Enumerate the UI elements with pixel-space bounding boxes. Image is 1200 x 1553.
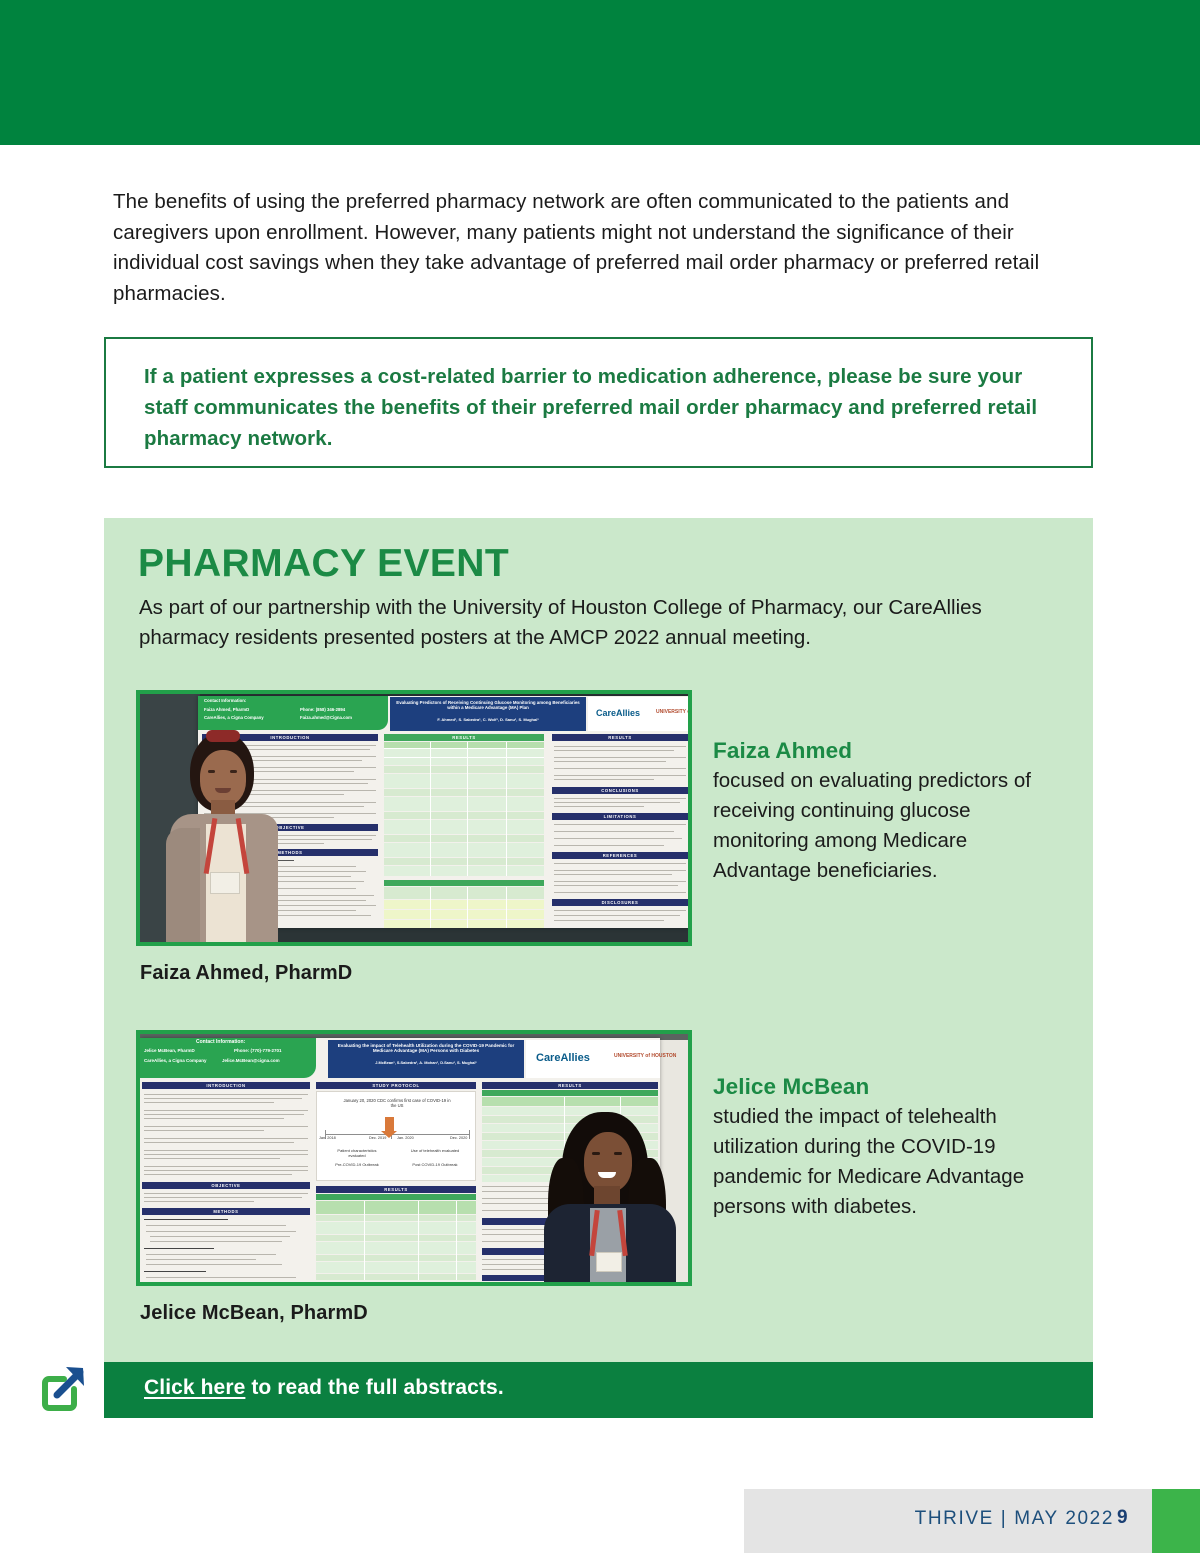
flow-right-sub: Post COVID-19 Outbreak (409, 1162, 461, 1167)
presenter-figure (148, 732, 288, 942)
flow-date-4: Dec. 2020 (450, 1136, 467, 1140)
photo-frame: Contact Information: Faiza Ahmed, PharmD… (136, 690, 692, 946)
flow-note: January 20, 2020 CDC confirms first case… (341, 1098, 453, 1109)
section-label-methods: METHODS (142, 1209, 310, 1214)
flow-right-label: Use of telehealth evaluated (409, 1148, 461, 1153)
section-label-conclusions: CONCLUSIONS (552, 788, 688, 793)
section-label-results-mid: RESULTS (316, 1187, 476, 1192)
poster-title: Evaluating the impact of Telehealth Util… (330, 1043, 522, 1054)
section-label-limitations: LIMITATIONS (552, 814, 688, 819)
flow-date-2: Dec. 2019 (369, 1136, 386, 1140)
uh-logo: UNIVERSITY of HOUSTON (656, 710, 690, 716)
flow-left-label: Patient characteristics evaluated (331, 1148, 383, 1158)
poster-contact-email: Jelice.McBean@cigna.com (222, 1058, 280, 1064)
bio-text-jelice: studied the impact of telehealth utiliza… (713, 1102, 1033, 1222)
uh-logo: UNIVERSITY of HOUSTON (614, 1054, 656, 1060)
external-link-icon[interactable] (38, 1362, 90, 1414)
presenter-figure (518, 1112, 688, 1282)
poster-contact-email: Faiza.ahmed@Cigna.com (300, 715, 352, 720)
callout-text: If a patient expresses a cost-related ba… (144, 361, 1064, 454)
poster-contact-heading: Contact Information: (204, 698, 246, 703)
header-band (0, 0, 1200, 145)
photo-caption-jelice: Jelice McBean, PharmD (140, 1302, 368, 1325)
section-label-references: REFERENCES (552, 853, 688, 858)
photo-caption-faiza: Faiza Ahmed, PharmD (140, 962, 352, 985)
section-label-results-mid: RESULTS (384, 735, 544, 740)
poster-contact-name: Faiza Ahmed, PharmD (204, 707, 249, 712)
section-label-results-right: RESULTS (552, 735, 688, 740)
bio-jelice-mcbean: Jelice McBean studied the impact of tele… (713, 1072, 1033, 1222)
footer-text: THRIVE | MAY 2022 (915, 1508, 1114, 1530)
poster-contact-phone: Phone: (770)-779-2701 (234, 1048, 282, 1054)
flow-date-1: Jan. 2018 (319, 1136, 336, 1140)
page-title: PHARMACY EVENT (138, 542, 509, 586)
newsletter-page: The benefits of using the preferred phar… (0, 0, 1200, 1553)
poster-title: Evaluating Predictors of Receiving Conti… (392, 700, 584, 710)
page-number: 9 (1117, 1507, 1128, 1529)
bio-name-jelice: Jelice McBean (713, 1072, 1033, 1102)
poster-authors: J.McBean¹, S.Sabedra¹, A. Mohan¹, D.Sanu… (330, 1061, 522, 1065)
cta-bar[interactable]: Click here to read the full abstracts. (104, 1362, 1093, 1418)
poster-contact-heading: Contact Information: (196, 1039, 245, 1045)
footer-accent-block (1152, 1489, 1200, 1553)
section-label-study-protocol: STUDY PROTOCOL (316, 1083, 476, 1088)
poster-authors: F. Ahmed¹, S. Sabedra¹, C. Wolf¹, D. San… (392, 718, 584, 723)
poster-photo-faiza-ahmed: Contact Information: Faiza Ahmed, PharmD… (136, 690, 692, 946)
poster-contact-org: CareAllies, a Cigna Company (144, 1058, 207, 1064)
flow-date-3: Jan. 2020 (397, 1136, 414, 1140)
cta-rest-label: to read the full abstracts. (245, 1376, 503, 1399)
event-subtitle: As part of our partnership with the Univ… (139, 593, 1054, 653)
careallies-logo: CareAllies (536, 1052, 590, 1064)
flow-left-sub: Pre-COVID-19 Outbreak (331, 1162, 383, 1167)
bio-text-faiza: focused on evaluating predictors of rece… (713, 766, 1033, 886)
callout-box: If a patient expresses a cost-related ba… (104, 337, 1093, 468)
poster-photo-jelice-mcbean: Contact Information: Jelice McBean, Phar… (136, 1030, 692, 1286)
bio-name-faiza: Faiza Ahmed (713, 736, 1033, 766)
click-here-link[interactable]: Click here (144, 1376, 245, 1399)
photo-frame: Contact Information: Jelice McBean, Phar… (136, 1030, 692, 1286)
section-label-results-right: RESULTS (482, 1083, 658, 1088)
bio-faiza-ahmed: Faiza Ahmed focused on evaluating predic… (713, 736, 1033, 886)
cta-label[interactable]: Click here to read the full abstracts. (144, 1376, 504, 1400)
poster-contact-org: CareAllies, a Cigna Company (204, 715, 264, 720)
careallies-logo: CareAllies (596, 708, 640, 718)
poster-contact-phone: Phone: (858) 346-2894 (300, 707, 345, 712)
section-label-disclosures: DISCLOSURES (552, 900, 688, 905)
section-label-objective: OBJECTIVE (142, 1183, 310, 1188)
study-flow-diagram: January 20, 2020 CDC confirms first case… (316, 1091, 476, 1181)
poster-contact-name: Jelice McBean, PharmD (144, 1048, 195, 1054)
section-label-introduction: INTRODUCTION (142, 1083, 310, 1088)
intro-paragraph: The benefits of using the preferred phar… (113, 187, 1063, 309)
